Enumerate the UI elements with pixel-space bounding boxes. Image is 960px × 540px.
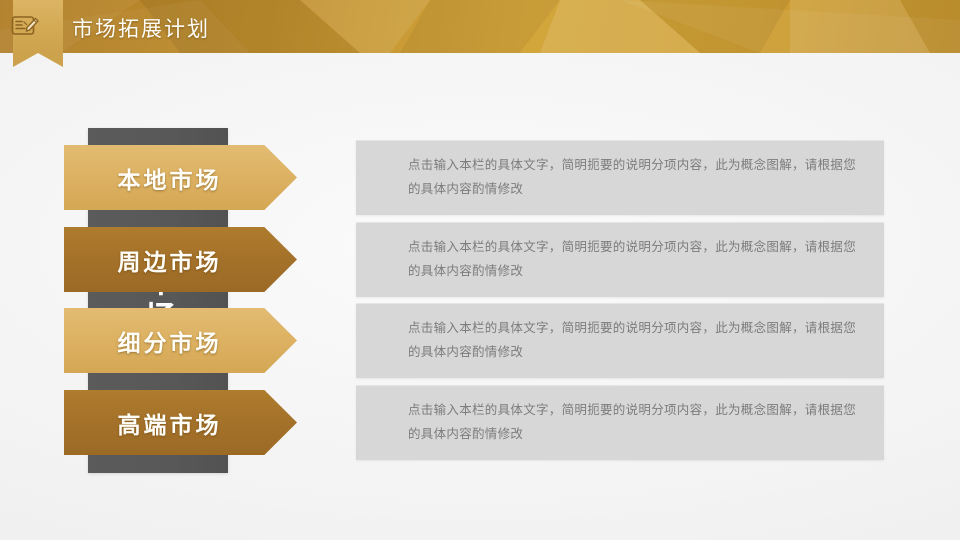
row-description-panel: 点击输入本栏的具体文字，简明扼要的说明分项内容，此为概念图解，请根据您的具体内容… (356, 303, 884, 378)
row-arrow-label: 周边市场 (118, 243, 222, 277)
row-arrow-label: 高端市场 (118, 406, 222, 440)
page-title: 市场拓展计划 (72, 13, 210, 43)
row-description-panel: 点击输入本栏的具体文字，简明扼要的说明分项内容，此为概念图解，请根据您的具体内容… (356, 140, 884, 215)
diagram-row: 点击输入本栏的具体文字，简明扼要的说明分项内容，此为概念图解，请根据您的具体内容… (0, 222, 960, 297)
row-arrow-高端市场[interactable]: 高端市场 (64, 390, 297, 455)
diagram-row: 点击输入本栏的具体文字，简明扼要的说明分项内容，此为概念图解，请根据您的具体内容… (0, 140, 960, 215)
row-arrow-label: 细分市场 (118, 324, 222, 358)
row-description-text: 点击输入本栏的具体文字，简明扼要的说明分项内容，此为概念图解，请根据您的具体内容… (408, 235, 863, 284)
row-arrow-细分市场[interactable]: 细分市场 (64, 308, 297, 373)
note-pencil-icon (11, 13, 39, 39)
row-description-text: 点击输入本栏的具体文字，简明扼要的说明分项内容，此为概念图解，请根据您的具体内容… (408, 316, 863, 365)
slide-header-band: 市场拓展计划 (0, 0, 960, 53)
row-arrow-本地市场[interactable]: 本地市场 (64, 145, 297, 210)
row-description-panel: 点击输入本栏的具体文字，简明扼要的说明分项内容，此为概念图解，请根据您的具体内容… (356, 385, 884, 460)
row-description-panel: 点击输入本栏的具体文字，简明扼要的说明分项内容，此为概念图解，请根据您的具体内容… (356, 222, 884, 297)
row-arrow-label: 本地市场 (118, 161, 222, 195)
market-expansion-diagram: 市场 点击输入本栏的具体文字，简明扼要的说明分项内容，此为概念图解，请根据您的具… (0, 53, 960, 540)
diagram-row: 点击输入本栏的具体文字，简明扼要的说明分项内容，此为概念图解，请根据您的具体内容… (0, 385, 960, 460)
row-description-text: 点击输入本栏的具体文字，简明扼要的说明分项内容，此为概念图解，请根据您的具体内容… (408, 398, 863, 447)
row-description-text: 点击输入本栏的具体文字，简明扼要的说明分项内容，此为概念图解，请根据您的具体内容… (408, 153, 863, 202)
diagram-row: 点击输入本栏的具体文字，简明扼要的说明分项内容，此为概念图解，请根据您的具体内容… (0, 303, 960, 378)
row-arrow-周边市场[interactable]: 周边市场 (64, 227, 297, 292)
title-ribbon-point (13, 53, 63, 67)
